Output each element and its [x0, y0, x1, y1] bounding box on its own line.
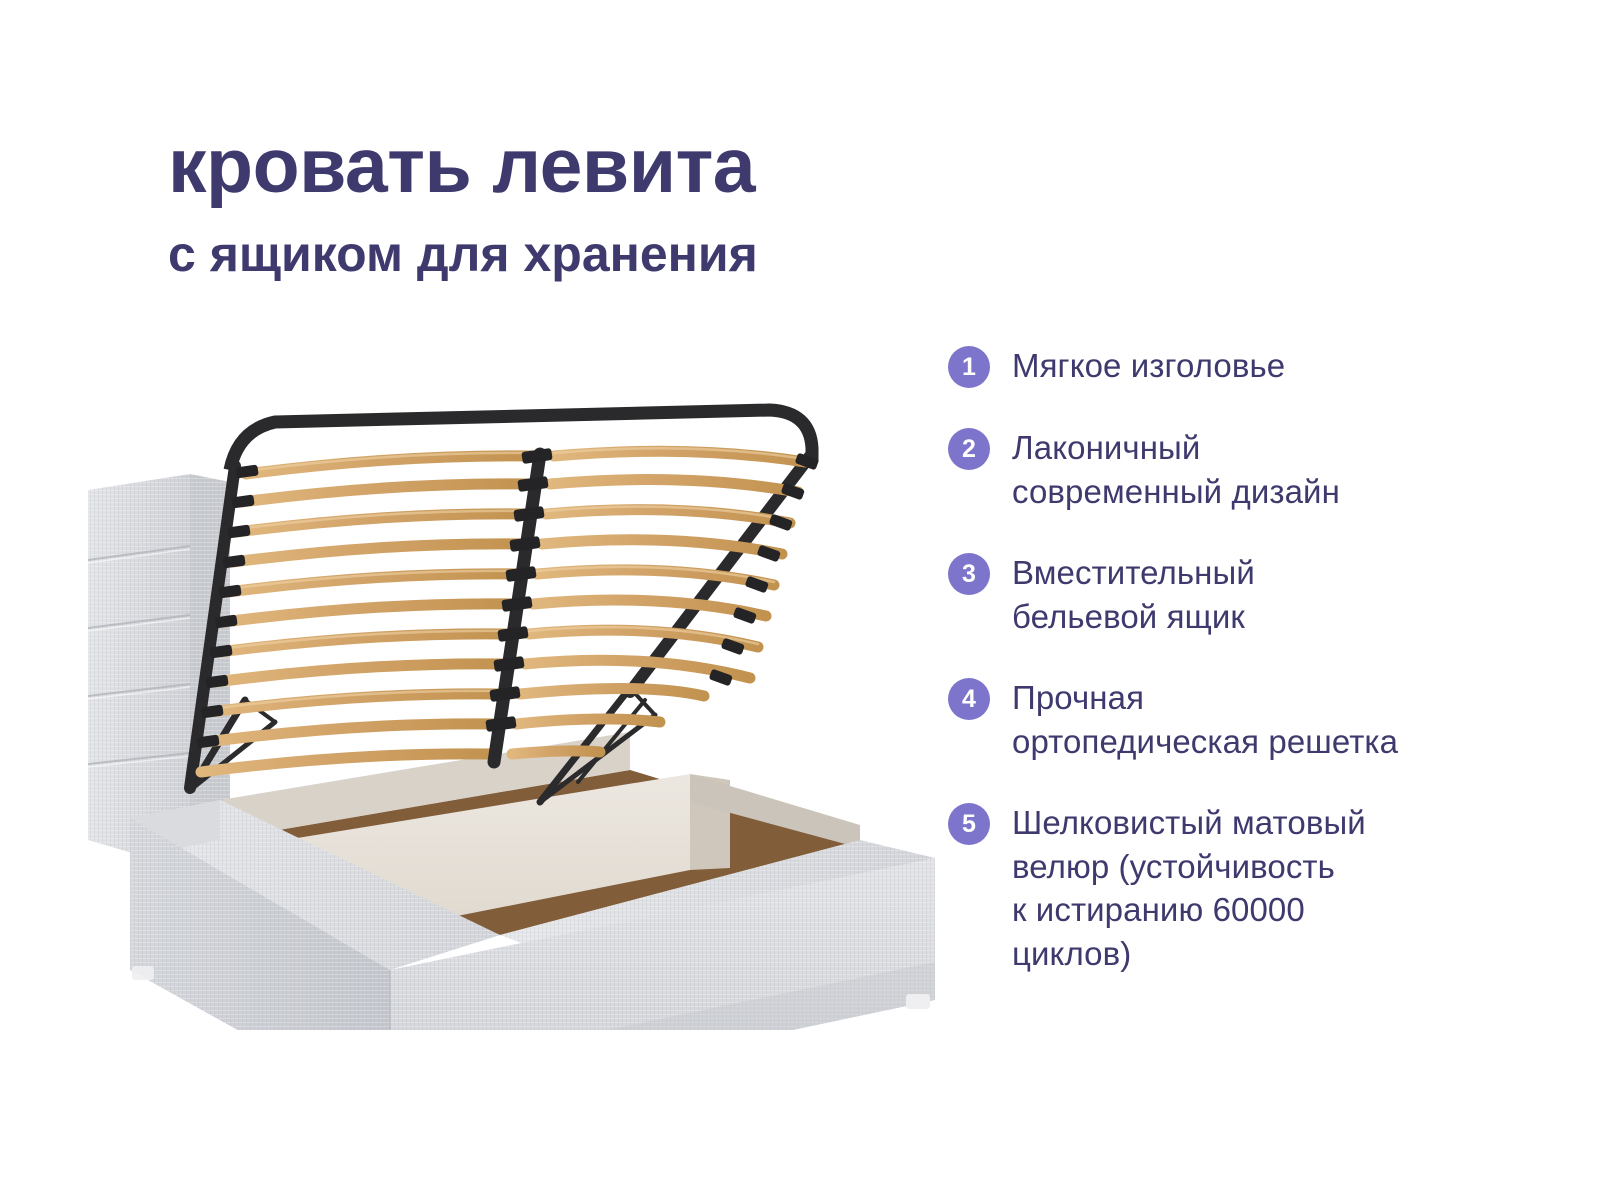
feature-number-badge-5: 5 [948, 803, 990, 845]
feature-item-4: 4 Прочная ортопедическая решетка [948, 676, 1548, 763]
product-image [70, 370, 970, 1030]
slat-base [190, 410, 819, 788]
bed-illustration [70, 370, 970, 1030]
feature-number-badge-4: 4 [948, 678, 990, 720]
feature-label-2: Лаконичный современный дизайн [1012, 426, 1340, 513]
page-subtitle: с ящиком для хранения [168, 229, 1068, 279]
feature-item-1: 1 Мягкое изголовье [948, 344, 1548, 388]
feature-item-5: 5 Шелковистый матовый велюр (устойчивост… [948, 801, 1548, 975]
feature-label-5: Шелковистый матовый велюр (устойчивость … [1012, 801, 1366, 975]
header: кровать левита с ящиком для хранения [168, 128, 1068, 279]
feature-list: 1 Мягкое изголовье 2 Лаконичный современ… [948, 344, 1548, 1013]
feature-item-2: 2 Лаконичный современный дизайн [948, 426, 1548, 513]
page-title: кровать левита [168, 128, 1068, 205]
feature-label-4: Прочная ортопедическая решетка [1012, 676, 1398, 763]
feature-label-1: Мягкое изголовье [1012, 344, 1285, 388]
feature-item-3: 3 Вместительный бельевой ящик [948, 551, 1548, 638]
infographic-page: кровать левита с ящиком для хранения [0, 0, 1600, 1200]
feature-number-badge-2: 2 [948, 428, 990, 470]
feature-number-badge-1: 1 [948, 346, 990, 388]
feature-label-3: Вместительный бельевой ящик [1012, 551, 1255, 638]
feature-number-badge-3: 3 [948, 553, 990, 595]
